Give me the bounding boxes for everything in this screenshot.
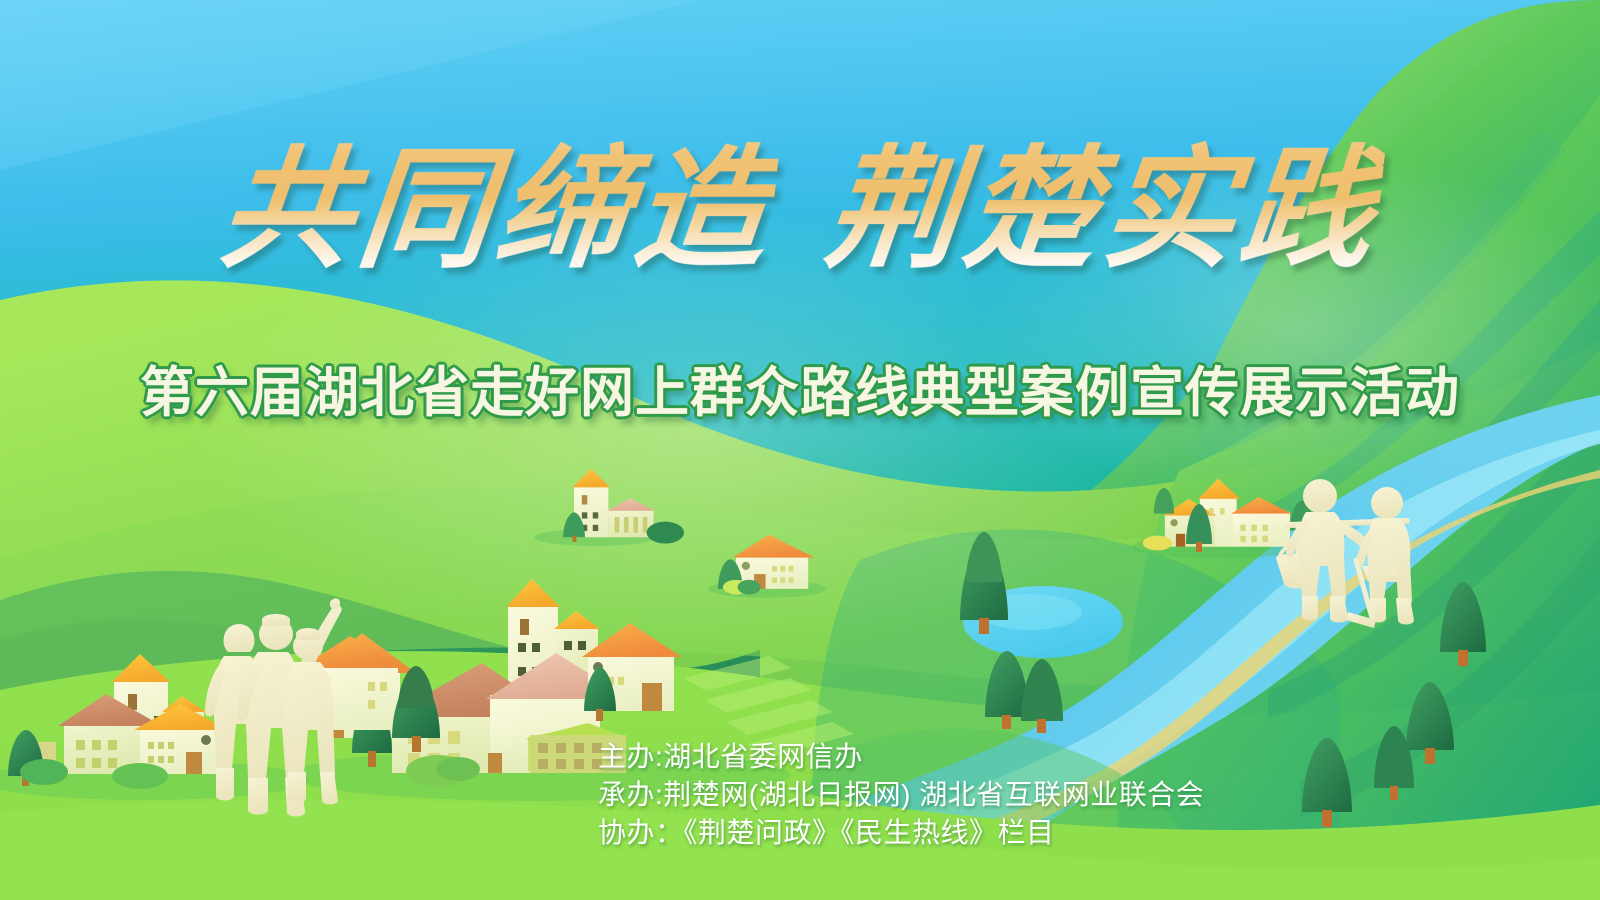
scene-illustration — [0, 0, 1600, 900]
poster-canvas: 共同缔造荆楚实践 第六届湖北省走好网上群众路线典型案例宣传展示活动 主办:湖北省… — [0, 0, 1600, 900]
glow-right — [980, 150, 1600, 510]
